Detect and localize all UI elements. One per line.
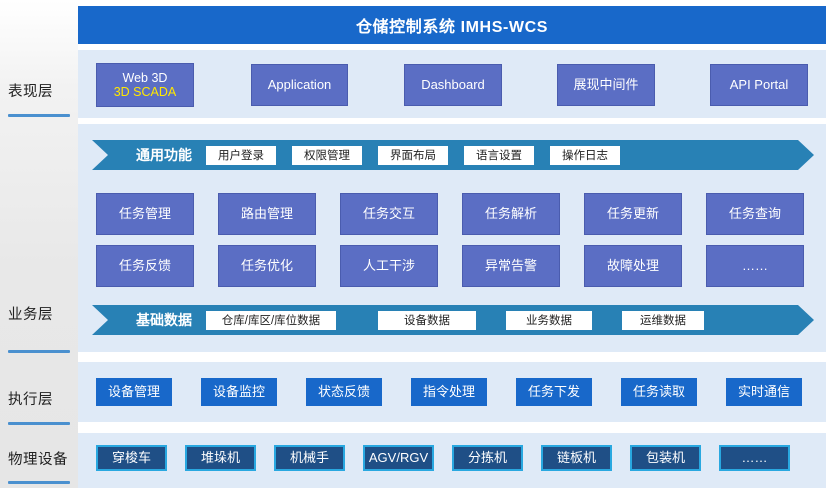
box-device-monitoring[interactable]: 设备监控 (201, 378, 277, 406)
chip-business-data[interactable]: 业务数据 (506, 311, 592, 330)
box-task-update[interactable]: 任务更新 (584, 193, 682, 235)
box-route-management[interactable]: 路由管理 (218, 193, 316, 235)
physical-row: 穿梭车 堆垛机 机械手 AGV/RGV 分拣机 链板机 包装机 …… (96, 445, 832, 471)
chip-device-data[interactable]: 设备数据 (378, 311, 476, 330)
box-packaging-machine[interactable]: 包装机 (630, 445, 701, 471)
box-chain-conveyor[interactable]: 链板机 (541, 445, 612, 471)
box-task-optimization[interactable]: 任务优化 (218, 245, 316, 287)
box-exception-alarm[interactable]: 异常告警 (462, 245, 560, 287)
business-layer-panel: 通用功能 用户登录 权限管理 界面布局 语言设置 操作日志 任务管理 路由管理 … (78, 124, 826, 352)
execution-layer-panel: 设备管理 设备监控 状态反馈 指令处理 任务下发 任务读取 实时通信 (78, 362, 826, 422)
physical-devices-panel: 穿梭车 堆垛机 机械手 AGV/RGV 分拣机 链板机 包装机 …… (78, 433, 826, 488)
box-manual-intervention[interactable]: 人工干涉 (340, 245, 438, 287)
box-task-management[interactable]: 任务管理 (96, 193, 194, 235)
presentation-layer-panel: Web 3D 3D SCADA Application Dashboard 展现… (78, 50, 826, 118)
box-sorter[interactable]: 分拣机 (452, 445, 523, 471)
rail-label-execution: 执行层 (8, 388, 78, 409)
page-title: 仓储控制系统 IMHS-WCS (78, 6, 826, 44)
business-row-1: 任务管理 路由管理 任务交互 任务解析 任务更新 任务查询 (96, 193, 832, 235)
box-device-management[interactable]: 设备管理 (96, 378, 172, 406)
rail-label-physical: 物理设备 (8, 448, 78, 469)
box-robot-arm[interactable]: 机械手 (274, 445, 345, 471)
box-more[interactable]: …… (706, 245, 804, 287)
rail-label-business: 业务层 (8, 303, 78, 324)
chip-warehouse-area-location-data[interactable]: 仓库/库区/库位数据 (206, 311, 336, 330)
box-stacker-crane[interactable]: 堆垛机 (185, 445, 256, 471)
box-dashboard[interactable]: Dashboard (404, 64, 502, 106)
box-task-query[interactable]: 任务查询 (706, 193, 804, 235)
presentation-row: Web 3D 3D SCADA Application Dashboard 展现… (96, 63, 832, 107)
base-data-banner: 基础数据 仓库/库区/库位数据 设备数据 业务数据 运维数据 (92, 305, 814, 335)
box-command-processing[interactable]: 指令处理 (411, 378, 487, 406)
box-label-line1: Web 3D (123, 71, 168, 85)
layer-rail: 表现层 业务层 执行层 物理设备 (0, 0, 78, 488)
chip-operation-log[interactable]: 操作日志 (550, 146, 620, 165)
base-data-chips: 仓库/库区/库位数据 设备数据 业务数据 运维数据 (206, 311, 704, 330)
execution-row: 设备管理 设备监控 状态反馈 指令处理 任务下发 任务读取 实时通信 (96, 378, 832, 406)
chip-language-settings[interactable]: 语言设置 (464, 146, 534, 165)
box-task-read[interactable]: 任务读取 (621, 378, 697, 406)
box-api-portal[interactable]: API Portal (710, 64, 808, 106)
rail-rule-business (8, 350, 70, 353)
box-physical-more[interactable]: …… (719, 445, 790, 471)
chip-ui-layout[interactable]: 界面布局 (378, 146, 448, 165)
box-task-feedback[interactable]: 任务反馈 (96, 245, 194, 287)
business-row-2: 任务反馈 任务优化 人工干涉 异常告警 故障处理 …… (96, 245, 832, 287)
rail-label-presentation: 表现层 (8, 80, 78, 101)
banner-title-common: 通用功能 (136, 145, 192, 165)
box-status-feedback[interactable]: 状态反馈 (306, 378, 382, 406)
architecture-diagram: 表现层 业务层 执行层 物理设备 仓储控制系统 IMHS-WCS Web 3D … (0, 0, 832, 488)
box-task-interaction[interactable]: 任务交互 (340, 193, 438, 235)
box-realtime-communication[interactable]: 实时通信 (726, 378, 802, 406)
rail-rule-execution (8, 422, 70, 425)
box-agv-rgv[interactable]: AGV/RGV (363, 445, 434, 471)
chip-permission-management[interactable]: 权限管理 (292, 146, 362, 165)
box-task-dispatch[interactable]: 任务下发 (516, 378, 592, 406)
box-fault-handling[interactable]: 故障处理 (584, 245, 682, 287)
common-functions-chips: 用户登录 权限管理 界面布局 语言设置 操作日志 (206, 146, 620, 165)
chip-ops-data[interactable]: 运维数据 (622, 311, 704, 330)
common-functions-banner: 通用功能 用户登录 权限管理 界面布局 语言设置 操作日志 (92, 140, 814, 170)
box-shuttle-vehicle[interactable]: 穿梭车 (96, 445, 167, 471)
box-presentation-middleware[interactable]: 展现中间件 (557, 64, 655, 106)
banner-title-base-data: 基础数据 (136, 310, 192, 330)
rail-rule-presentation (8, 114, 70, 117)
chip-user-login[interactable]: 用户登录 (206, 146, 276, 165)
box-label-line2: 3D SCADA (114, 85, 177, 99)
box-task-parsing[interactable]: 任务解析 (462, 193, 560, 235)
rail-rule-physical (8, 481, 70, 484)
box-web3d-scada[interactable]: Web 3D 3D SCADA (96, 63, 194, 107)
box-application[interactable]: Application (251, 64, 348, 106)
